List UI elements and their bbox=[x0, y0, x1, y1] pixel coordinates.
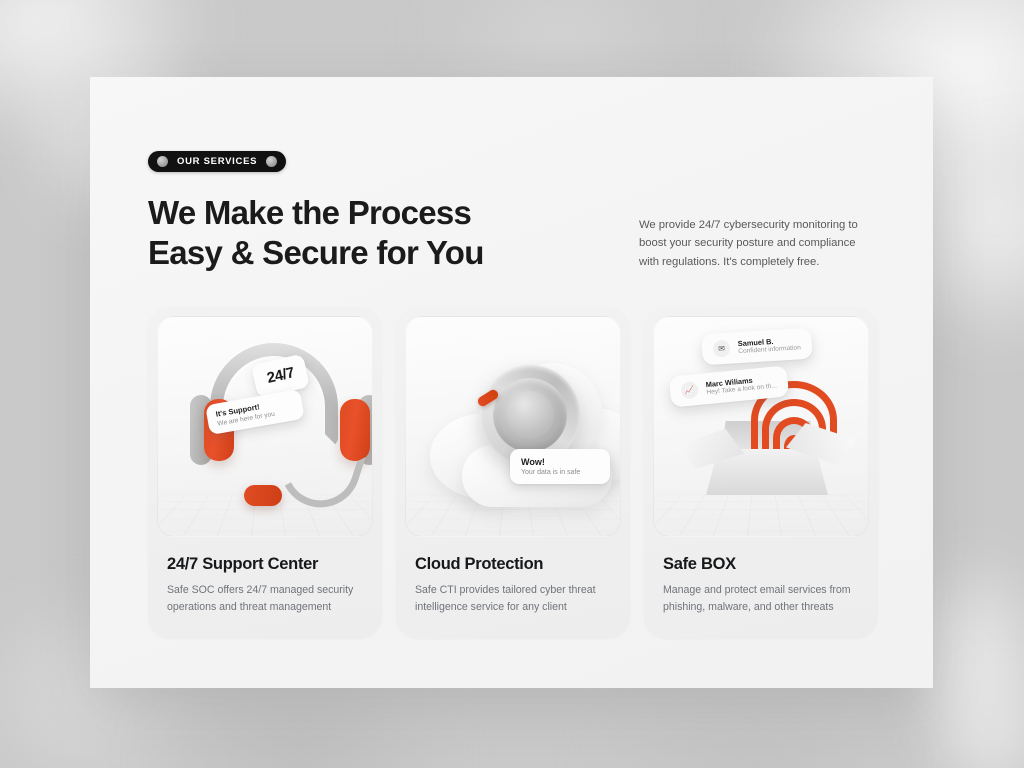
bubble-24-7-text: 24/7 bbox=[265, 364, 296, 387]
dial-indicator-icon bbox=[476, 388, 500, 408]
card-description: Safe SOC offers 24/7 managed security op… bbox=[167, 582, 363, 616]
card-description: Safe CTI provides tailored cyber threat … bbox=[415, 582, 611, 616]
headline-line-1: We Make the Process bbox=[148, 193, 568, 233]
cloud-safe-3d-graphic bbox=[406, 317, 620, 536]
chart-icon: 📈 bbox=[680, 381, 699, 400]
card-title: Safe BOX bbox=[663, 555, 859, 574]
card-body: Cloud Protection Safe CTI provides tailo… bbox=[405, 537, 621, 638]
card-title: 24/7 Support Center bbox=[167, 555, 363, 574]
mail-icon: ✉ bbox=[713, 340, 731, 358]
card-body: Safe BOX Manage and protect email servic… bbox=[653, 537, 869, 638]
card-illustration-safe-box: ✉ Samuel B. Confident information 📈 Marc… bbox=[653, 316, 869, 537]
section-intro-paragraph: We provide 24/7 cybersecurity monitoring… bbox=[639, 216, 875, 271]
section-badge: OUR SERVICES bbox=[148, 151, 286, 172]
headline-line-2: Easy & Secure for You bbox=[148, 233, 568, 273]
headset-microphone bbox=[244, 485, 282, 506]
bubble-wow-title: Wow! bbox=[521, 457, 599, 467]
service-card-cloud-protection[interactable]: Wow! Your data is in safe Cloud Protecti… bbox=[396, 307, 630, 638]
background-blob bbox=[600, 700, 900, 768]
card-body: 24/7 Support Center Safe SOC offers 24/7… bbox=[157, 537, 373, 638]
card-illustration-headset: 24/7 It's Support! We are here for you bbox=[157, 316, 373, 537]
badge-dot-right-icon bbox=[266, 156, 277, 167]
section-badge-label: OUR SERVICES bbox=[177, 156, 257, 167]
section-headline: We Make the Process Easy & Secure for Yo… bbox=[148, 193, 568, 274]
badge-dot-left-icon bbox=[157, 156, 168, 167]
service-cards-row: 24/7 It's Support! We are here for you 2… bbox=[148, 307, 878, 638]
card-illustration-cloud: Wow! Your data is in safe bbox=[405, 316, 621, 537]
bubble-wow-sub: Your data is in safe bbox=[521, 469, 599, 476]
headset-3d-graphic bbox=[158, 317, 372, 536]
bubble-wow: Wow! Your data is in safe bbox=[510, 449, 610, 484]
section-header: OUR SERVICES We Make the Process Easy & … bbox=[148, 151, 878, 274]
service-card-support-center[interactable]: 24/7 It's Support! We are here for you 2… bbox=[148, 307, 382, 638]
card-description: Manage and protect email services from p… bbox=[663, 582, 859, 616]
service-card-safe-box[interactable]: ✉ Samuel B. Confident information 📈 Marc… bbox=[644, 307, 878, 638]
card-title: Cloud Protection bbox=[415, 555, 611, 574]
services-section-panel: OUR SERVICES We Make the Process Easy & … bbox=[90, 77, 933, 688]
